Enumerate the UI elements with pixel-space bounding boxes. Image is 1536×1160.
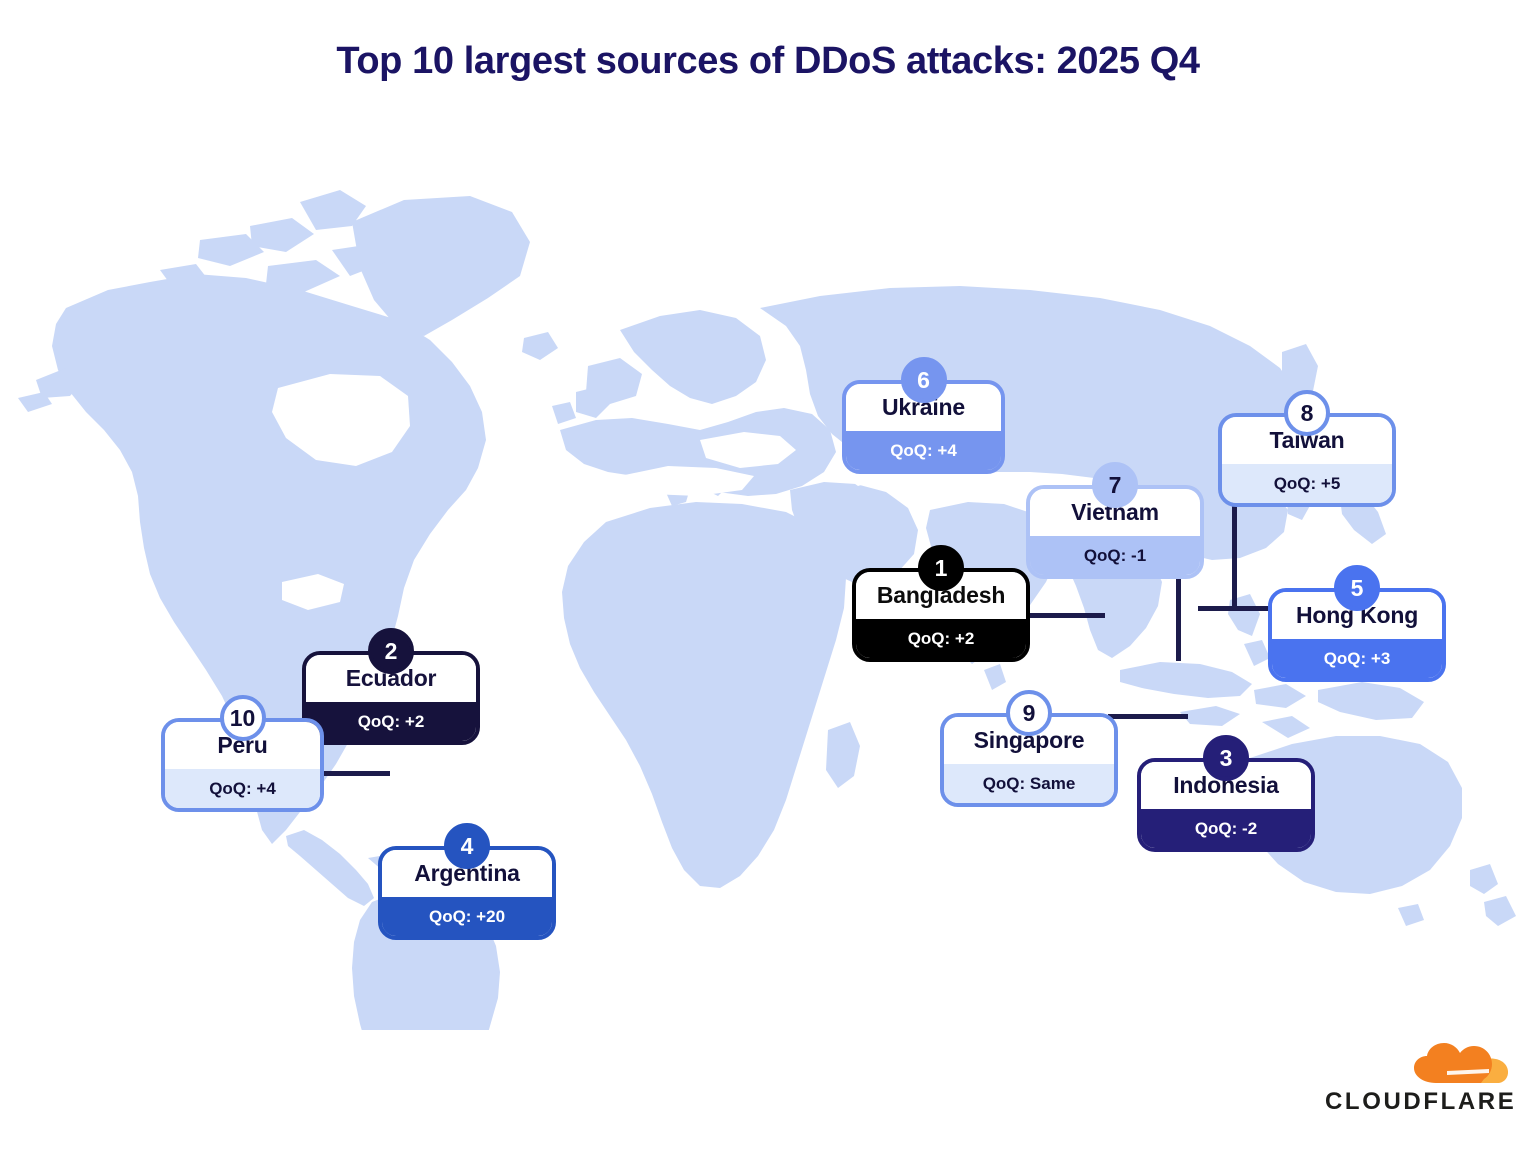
rank-value: 2 [385, 640, 398, 663]
rank-value: 5 [1351, 577, 1364, 600]
ddos-sources-map-infographic: Top 10 largest sources of DDoS attacks: … [0, 0, 1536, 1160]
rank-value: 8 [1301, 402, 1314, 425]
rank-value: 4 [461, 835, 474, 858]
qoq-label: QoQ: +20 [382, 897, 552, 936]
rank-value: 7 [1109, 474, 1122, 497]
qoq-label: QoQ: +2 [306, 702, 476, 741]
rank-badge-hong-kong: 5 [1334, 565, 1380, 611]
rank-badge-indonesia: 3 [1203, 735, 1249, 781]
qoq-label: QoQ: +4 [165, 769, 320, 808]
qoq-label: QoQ: +4 [846, 431, 1001, 470]
qoq-label: QoQ: -2 [1141, 809, 1311, 848]
cloudflare-logo: CLOUDFLARE [1325, 1040, 1510, 1120]
world-map [0, 130, 1536, 1030]
qoq-label: QoQ: +3 [1272, 639, 1442, 678]
rank-value: 9 [1023, 702, 1036, 725]
qoq-label: QoQ: +5 [1222, 464, 1392, 503]
rank-badge-peru: 10 [220, 695, 266, 741]
rank-value: 10 [230, 707, 256, 730]
page-title: Top 10 largest sources of DDoS attacks: … [0, 40, 1536, 83]
cloudflare-cloud-icon [1413, 1040, 1509, 1084]
rank-value: 6 [917, 369, 930, 392]
cloudflare-wordmark: CLOUDFLARE [1325, 1088, 1510, 1116]
rank-value: 1 [935, 557, 948, 580]
rank-badge-ecuador: 2 [368, 628, 414, 674]
rank-badge-singapore: 9 [1006, 690, 1052, 736]
qoq-label: QoQ: Same [944, 764, 1114, 803]
rank-badge-taiwan: 8 [1284, 390, 1330, 436]
rank-badge-bangladesh: 1 [918, 545, 964, 591]
qoq-label: QoQ: +2 [856, 619, 1026, 658]
rank-badge-argentina: 4 [444, 823, 490, 869]
rank-value: 3 [1220, 747, 1233, 770]
rank-badge-vietnam: 7 [1092, 462, 1138, 508]
qoq-label: QoQ: -1 [1030, 536, 1200, 575]
rank-badge-ukraine: 6 [901, 357, 947, 403]
